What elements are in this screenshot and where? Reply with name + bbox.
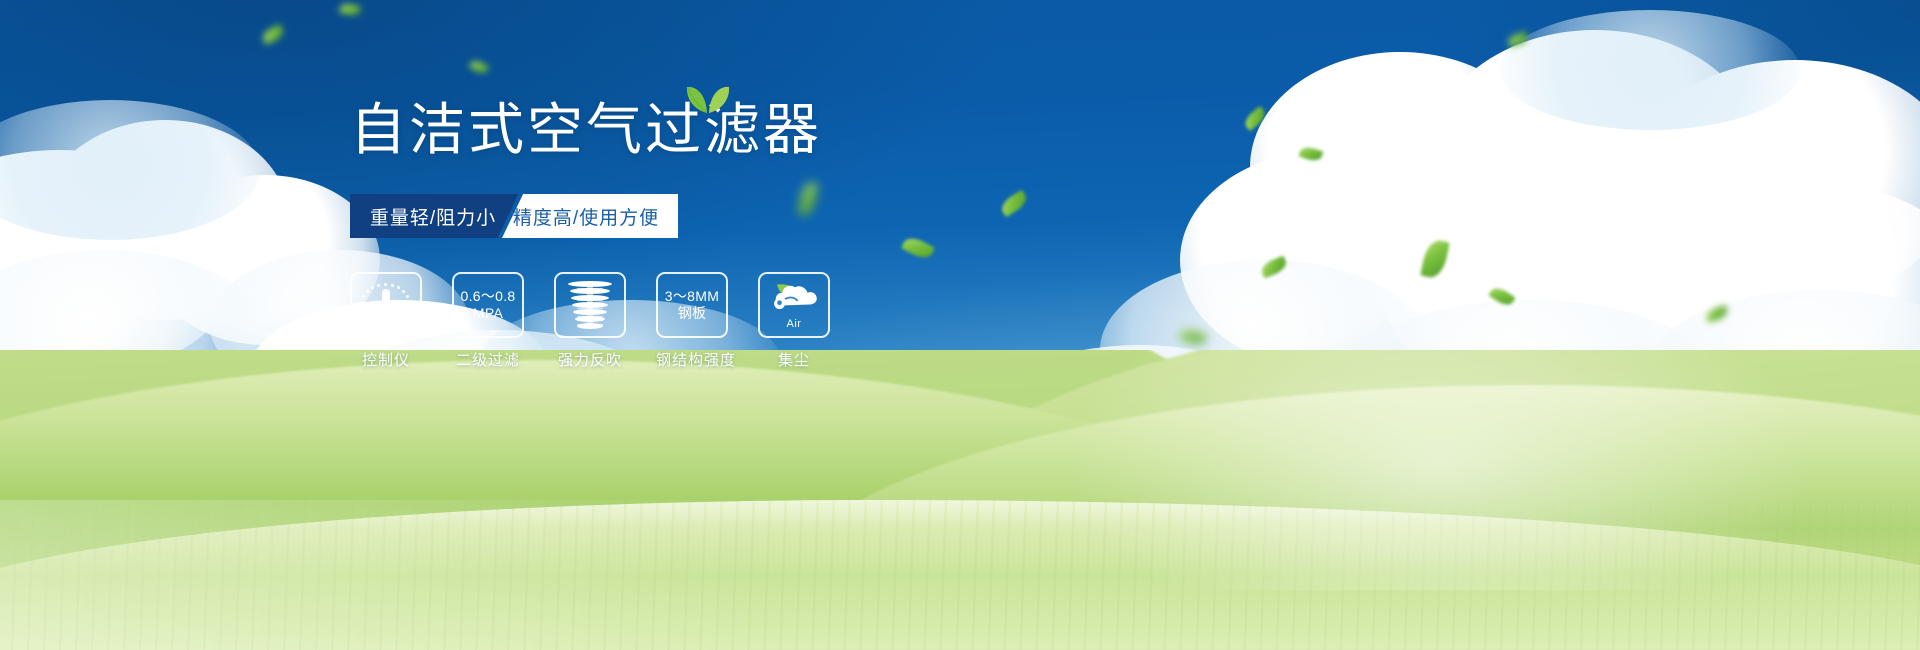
leaf-accent-icon xyxy=(685,84,731,114)
dial-gauge-icon: NO OFF xyxy=(358,280,414,330)
steel-plate-text-icon: 3～8MM 钢板 xyxy=(665,288,719,322)
title-row: 自洁式空气过滤器 xyxy=(350,98,1050,170)
feature-tags: 重量轻/阻力小 精度高/使用方便 xyxy=(350,194,680,238)
tag-high-precision-easy-use[interactable]: 精度高/使用方便 xyxy=(502,194,678,238)
feature-item-strong-backblow[interactable]: 强力反吹 xyxy=(554,272,626,370)
grass-texture xyxy=(0,500,1920,650)
feature-caption: 二级过滤 xyxy=(452,349,524,370)
feature-icon-list: NO OFF 控制仪 0.6～0.8 MPA 二级过滤 xyxy=(350,272,1050,370)
steel-thickness: 3～8MM xyxy=(665,288,719,304)
green-grass-hills xyxy=(0,350,1920,650)
feature-caption: 钢结构强度 xyxy=(656,349,728,370)
feature-item-controller[interactable]: NO OFF 控制仪 xyxy=(350,272,422,370)
feature-caption: 集尘 xyxy=(758,349,830,370)
tag-label: 精度高/使用方便 xyxy=(513,203,659,230)
feature-caption: 控制仪 xyxy=(350,349,422,370)
feature-icon-box xyxy=(554,272,626,338)
pressure-text-icon: 0.6～0.8 MPA xyxy=(460,288,515,322)
feature-icon-box: 3～8MM 钢板 xyxy=(656,272,728,338)
product-hero-banner: 自洁式空气过滤器 重量轻/阻力小 精度高/使用方便 xyxy=(0,0,1920,650)
dial-label-off: OFF xyxy=(402,323,415,329)
feature-icon-box: NO OFF xyxy=(350,272,422,338)
pressure-value: 0.6～0.8 xyxy=(460,288,515,304)
cloud-air-icon: Air xyxy=(765,281,823,329)
cloud-leaf-glyph xyxy=(765,281,823,319)
feature-item-dust-collection[interactable]: Air 集尘 xyxy=(758,272,830,370)
banner-content: 自洁式空气过滤器 重量轻/阻力小 精度高/使用方便 xyxy=(350,98,1050,370)
steel-material: 钢板 xyxy=(665,305,719,322)
tag-lightweight-low-resistance[interactable]: 重量轻/阻力小 xyxy=(350,194,518,238)
dial-needle xyxy=(382,289,390,322)
air-label: Air xyxy=(765,318,823,330)
feature-icon-box: 0.6～0.8 MPA xyxy=(452,272,524,338)
pressure-unit: MPA xyxy=(460,305,515,322)
tag-label: 重量轻/阻力小 xyxy=(370,203,496,230)
feature-caption: 强力反吹 xyxy=(554,349,626,370)
feature-item-steel-structure-strength[interactable]: 3～8MM 钢板 钢结构强度 xyxy=(656,272,728,370)
dial-label-no: NO xyxy=(357,302,367,308)
feature-item-two-stage-filtration[interactable]: 0.6～0.8 MPA 二级过滤 xyxy=(452,272,524,370)
feature-icon-box: Air xyxy=(758,272,830,338)
filter-cartridge-icon xyxy=(568,281,612,329)
